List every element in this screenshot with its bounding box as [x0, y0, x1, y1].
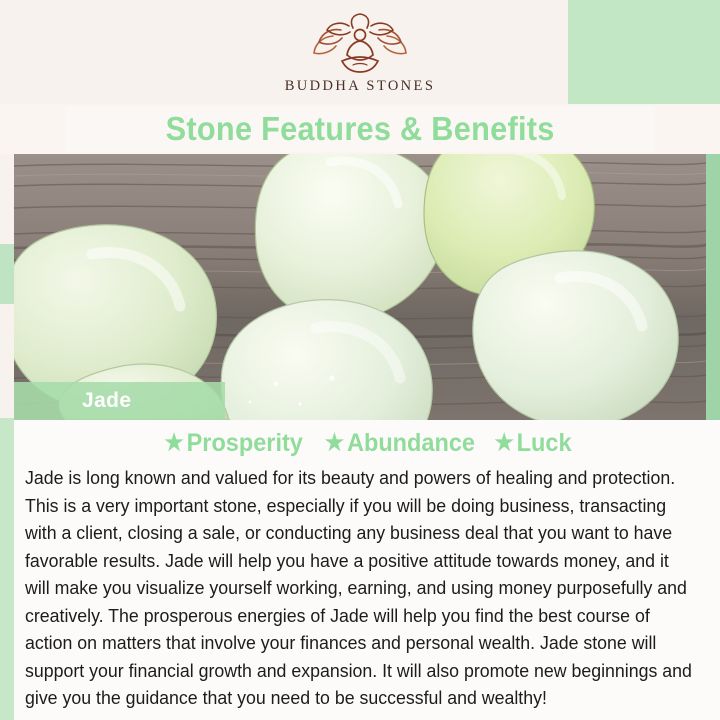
infographic-page: BUDDHA STONES Stone Features & Benefits — [0, 0, 720, 720]
benefit-item-abundance: ★Abundance — [325, 429, 475, 458]
jade-tumbled-stones-photo — [14, 152, 706, 420]
brand-header: BUDDHA STONES — [0, 0, 720, 108]
stone-name-label: Jade — [82, 389, 131, 413]
star-icon: ★ — [164, 429, 183, 455]
title-banner-inner: Stone Features & Benefits — [65, 106, 655, 152]
content-panel: ★Prosperity ★Abundance ★Luck Jade is lon… — [14, 420, 720, 720]
benefit-label: Luck — [517, 429, 572, 457]
decoration-right-green-strip — [705, 148, 720, 424]
benefit-item-luck: ★Luck — [494, 429, 571, 458]
brand-name: BUDDHA STONES — [285, 78, 436, 95]
page-title: Stone Features & Benefits — [165, 110, 554, 148]
decoration-left-green-strip — [0, 418, 14, 720]
star-icon: ★ — [494, 429, 513, 455]
benefit-item-prosperity: ★Prosperity — [164, 429, 302, 458]
decoration-left-green-nub — [0, 244, 14, 304]
title-banner: Stone Features & Benefits — [0, 104, 720, 154]
stone-description: Jade is long known and valued for its be… — [25, 464, 693, 712]
star-icon: ★ — [325, 429, 344, 455]
photo-caption-band: Jade — [14, 382, 225, 420]
brand-logo: BUDDHA STONES — [285, 13, 436, 95]
lotus-meditation-icon — [305, 13, 415, 75]
benefit-label: Prosperity — [187, 429, 303, 457]
benefits-list: ★Prosperity ★Abundance ★Luck — [14, 420, 720, 458]
benefit-label: Abundance — [347, 429, 475, 457]
